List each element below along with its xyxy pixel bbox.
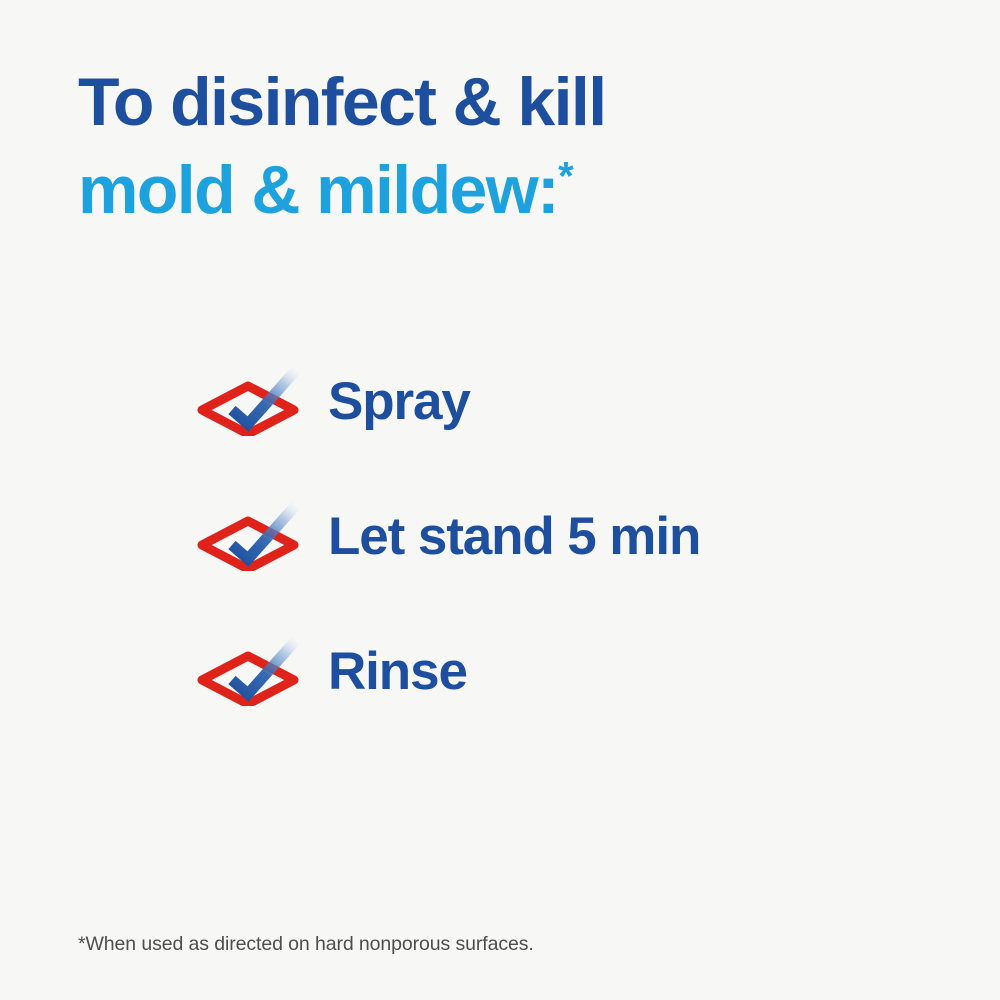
heading-line-2: mold & mildew:* bbox=[78, 146, 918, 234]
red-lens-blue-check-icon bbox=[196, 636, 304, 706]
footnote-text: *When used as directed on hard nonporous… bbox=[78, 932, 534, 957]
heading-line-2-text: mold & mildew: bbox=[78, 152, 558, 228]
red-lens-blue-check-icon bbox=[196, 501, 304, 571]
list-item: Spray bbox=[196, 366, 936, 436]
heading-asterisk: * bbox=[558, 155, 574, 199]
list-item: Let stand 5 min bbox=[196, 501, 936, 571]
heading-line-1: To disinfect & kill bbox=[78, 58, 918, 146]
step-label: Rinse bbox=[328, 645, 467, 698]
instruction-poster: To disinfect & kill mold & mildew:* bbox=[0, 0, 1000, 1000]
step-label: Spray bbox=[328, 375, 470, 428]
steps-list: Spray Let stand 5 min bbox=[196, 366, 936, 706]
step-label: Let stand 5 min bbox=[328, 510, 700, 563]
page-title: To disinfect & kill mold & mildew:* bbox=[78, 58, 918, 235]
red-lens-blue-check-icon bbox=[196, 366, 304, 436]
list-item: Rinse bbox=[196, 636, 936, 706]
